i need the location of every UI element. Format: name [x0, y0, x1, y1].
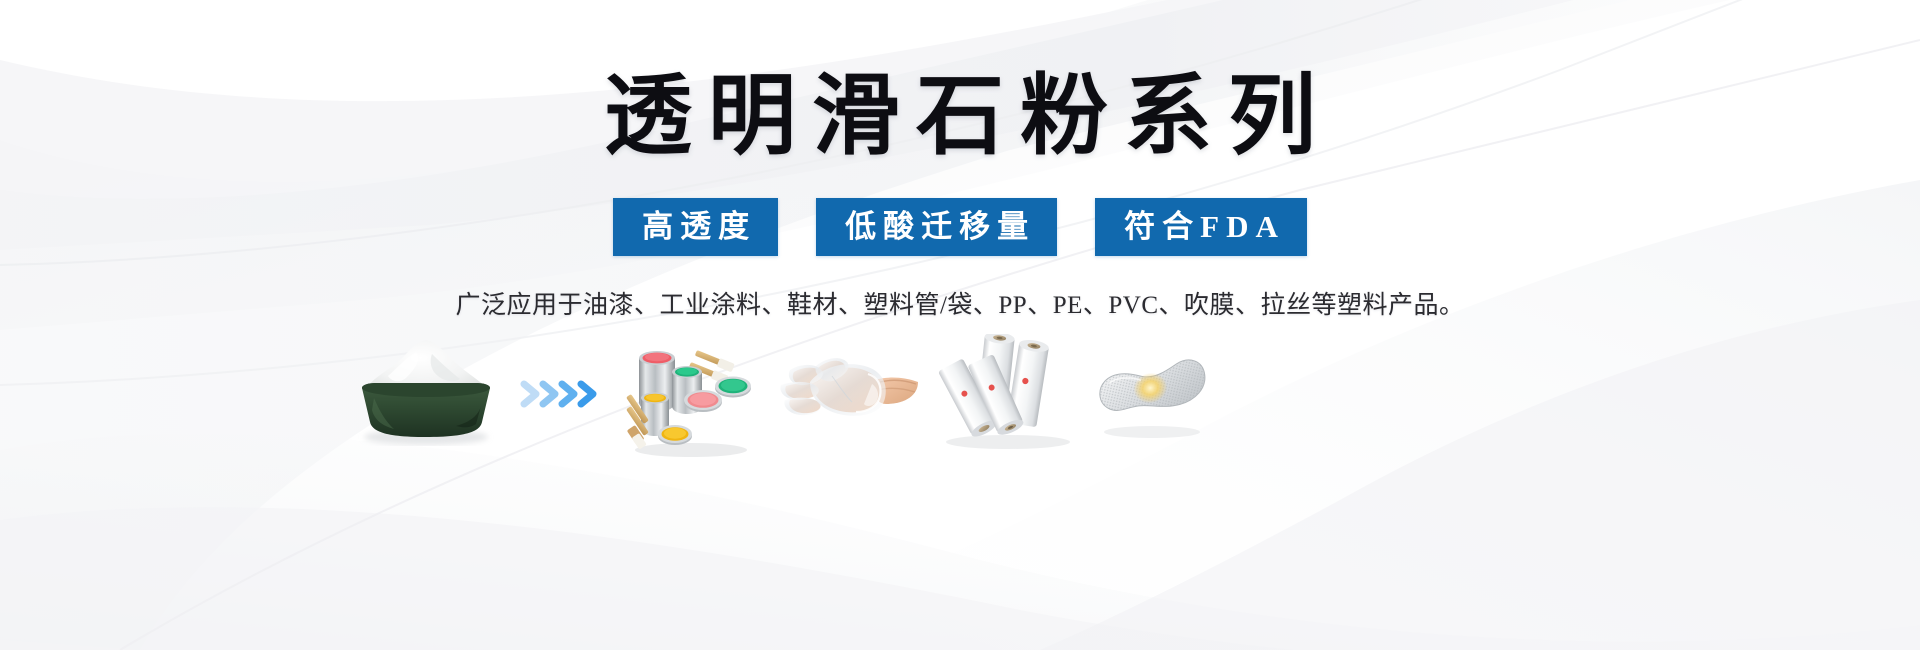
chevron-arrows-icon — [520, 376, 616, 412]
banner-content: 透明滑石粉系列 高透度 低酸迁移量 符合FDA 广泛应用于油漆、工业涂料、鞋材、… — [0, 0, 1920, 650]
feature-badge-list: 高透度 低酸迁移量 符合FDA — [613, 198, 1307, 256]
plastic-glove-image — [772, 354, 920, 432]
film-rolls-image — [938, 334, 1078, 450]
feature-badge-low-acid-migration[interactable]: 低酸迁移量 — [816, 198, 1057, 256]
page-title: 透明滑石粉系列 — [588, 74, 1332, 162]
product-image-strip — [0, 342, 1920, 482]
application-description: 广泛应用于油漆、工业涂料、鞋材、塑料管/袋、PP、PE、PVC、吹膜、拉丝等塑料… — [455, 293, 1464, 318]
product-banner: 透明滑石粉系列 高透度 低酸迁移量 符合FDA 广泛应用于油漆、工业涂料、鞋材、… — [0, 0, 1920, 650]
shoe-sole-image — [1090, 348, 1212, 440]
talc-powder-bowl-image — [336, 336, 512, 446]
feature-badge-fda-compliant[interactable]: 符合FDA — [1095, 198, 1307, 256]
paint-cans-image — [625, 332, 755, 460]
feature-badge-high-transparency[interactable]: 高透度 — [613, 198, 778, 256]
